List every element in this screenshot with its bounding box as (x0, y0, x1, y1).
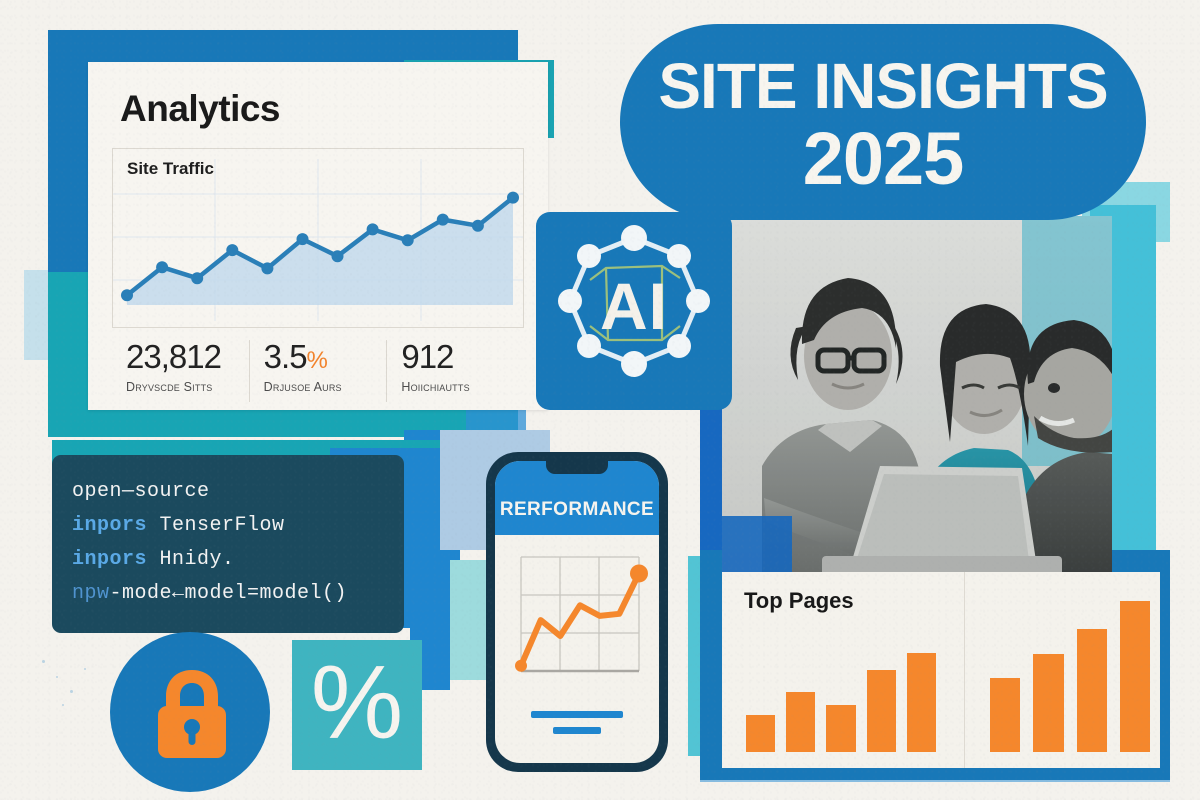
phone-header: RERFORMANCE (495, 461, 659, 535)
paper-speck (84, 668, 86, 670)
bar (786, 692, 815, 752)
security-badge (110, 632, 270, 792)
bar (1033, 654, 1063, 752)
data-point (402, 234, 414, 246)
ai-badge: AI (536, 212, 732, 410)
collage-canvas: Analytics Site Traffic 23,812 (0, 0, 1200, 800)
stat-item: 912 Hoiichiautts (386, 340, 524, 402)
phone-text-bar-long (531, 711, 623, 718)
page-title: Analytics (120, 88, 280, 130)
data-point (507, 192, 519, 204)
team-photo-illustration (722, 216, 1112, 574)
percent-icon: % (292, 644, 422, 764)
data-point (191, 272, 203, 284)
data-point-end (630, 564, 648, 582)
stats-row: 23,812 Dryvscde sitts 3.5% Drjusoe aurs … (112, 340, 524, 402)
phone-text-bar-short (553, 727, 601, 734)
bar (867, 670, 896, 752)
performance-chart (495, 543, 659, 693)
ai-label: AI (536, 268, 732, 344)
paper-speck (62, 704, 64, 706)
analytics-card: Analytics Site Traffic 23,812 (88, 62, 548, 410)
site-traffic-chart: Site Traffic (112, 148, 524, 328)
stat-value: 912 (401, 340, 524, 373)
headline-line-2: 2025 (620, 122, 1146, 196)
stat-label: Hoiichiautts (401, 380, 524, 394)
bar (826, 705, 855, 752)
top-pages-card: Top Pages (722, 572, 1160, 768)
code-line: inpors TenserFlow (72, 509, 404, 543)
bar-group-left (746, 610, 936, 752)
paper-speck (42, 660, 45, 663)
stat-label: Drjusoe aurs (264, 380, 387, 394)
phone-notch (546, 461, 608, 474)
code-line: inpors Hnidy. (72, 543, 404, 577)
bar (1077, 629, 1107, 752)
stat-item: 3.5% Drjusoe aurs (249, 340, 387, 402)
headline-line-1: SITE INSIGHTS (620, 54, 1146, 118)
phone-mockup: RERFORMANCE (486, 452, 668, 772)
paper-speck (56, 676, 58, 678)
headline-banner: SITE INSIGHTS 2025 (620, 24, 1146, 220)
phone-screen: RERFORMANCE (495, 461, 659, 763)
data-point (367, 223, 379, 235)
card-divider (964, 572, 965, 768)
code-snippet-card: open—source inpors TenserFlow inpors Hni… (52, 455, 404, 633)
percent-suffix: % (307, 347, 327, 374)
percent-tile: % (292, 640, 422, 770)
data-point-start (515, 660, 527, 672)
code-line: open—source (72, 475, 404, 509)
stat-value: 3.5% (264, 340, 387, 373)
data-point (332, 250, 344, 262)
code-line: npw-mode←model=model() (72, 577, 404, 611)
bar-group-right (990, 588, 1150, 752)
team-photo (722, 216, 1112, 574)
bar (907, 653, 936, 752)
bar (1120, 601, 1150, 752)
stat-value: 23,812 (126, 340, 249, 373)
phone-header-title: RERFORMANCE (495, 499, 659, 521)
data-point (156, 261, 168, 273)
chart-title: Site Traffic (127, 159, 214, 179)
bar (990, 678, 1020, 752)
data-point (121, 289, 133, 301)
data-point (226, 244, 238, 256)
data-point (437, 214, 449, 226)
stat-label: Dryvscde sitts (126, 380, 249, 394)
bar (746, 715, 775, 752)
lock-icon (150, 666, 234, 760)
data-point (472, 220, 484, 232)
data-point (261, 262, 273, 274)
data-point (297, 233, 309, 245)
paper-speck (70, 690, 73, 693)
stat-item: 23,812 Dryvscde sitts (112, 340, 249, 402)
